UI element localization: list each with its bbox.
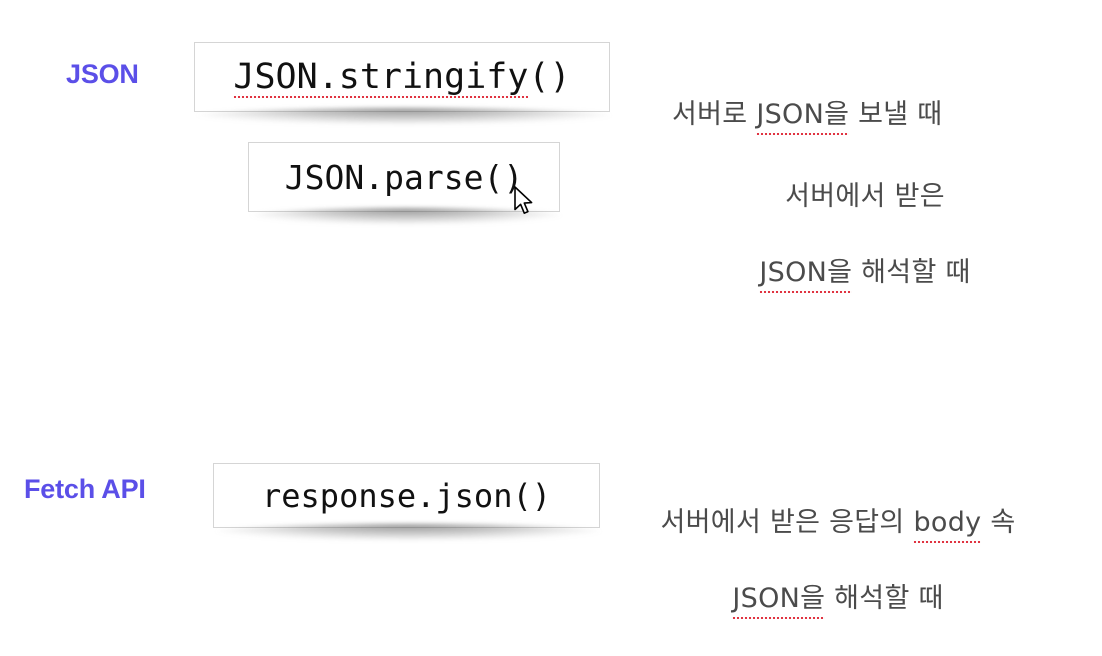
code-text-response-json: response.json() xyxy=(262,477,551,515)
description-line: 서버에서 받은 xyxy=(700,178,1030,216)
code-box-json-parse[interactable]: JSON.parse() xyxy=(248,142,560,212)
description-suffix: 속 xyxy=(981,507,1015,538)
spellchecked-code-json-stringify: JSON.stringify xyxy=(233,57,528,97)
category-label-json: JSON xyxy=(66,59,139,90)
spellchecked-term-body: body xyxy=(913,504,981,542)
description-json-parse: 서버에서 받은 JSON을 해석할 때 xyxy=(700,140,1030,330)
category-label-fetch-api: Fetch API xyxy=(24,474,146,505)
description-suffix: 해석할 때 xyxy=(852,257,970,288)
spellchecked-term-json: JSON을 xyxy=(756,96,849,134)
spellchecked-term-json: JSON을 xyxy=(759,254,852,292)
description-suffix: 해석할 때 xyxy=(825,583,943,614)
code-box-json-stringify[interactable]: JSON.stringify() xyxy=(194,42,610,112)
description-suffix: 보낼 때 xyxy=(849,99,942,130)
description-line: 서버에서 받은 응답의 body 속 xyxy=(618,504,1058,542)
code-box-response-json[interactable]: response.json() xyxy=(213,463,600,528)
description-line: JSON을 해석할 때 xyxy=(618,580,1058,618)
description-line: 서버로 JSON을 보낼 때 xyxy=(672,96,942,134)
code-text-json-parse: JSON.parse() xyxy=(285,158,523,197)
code-text-json-stringify: JSON.stringify() xyxy=(233,57,570,97)
description-prefix: 서버에서 받은 응답의 xyxy=(661,507,914,538)
slide-canvas: JSON JSON.stringify() 서버로 JSON을 보낼 때 JSO… xyxy=(0,0,1102,613)
description-line: JSON을 해석할 때 xyxy=(700,254,1030,292)
spellchecked-term-json: JSON을 xyxy=(732,580,825,618)
description-prefix: 서버로 xyxy=(672,99,756,130)
description-response-json: 서버에서 받은 응답의 body 속 JSON을 해석할 때 xyxy=(618,466,1058,656)
